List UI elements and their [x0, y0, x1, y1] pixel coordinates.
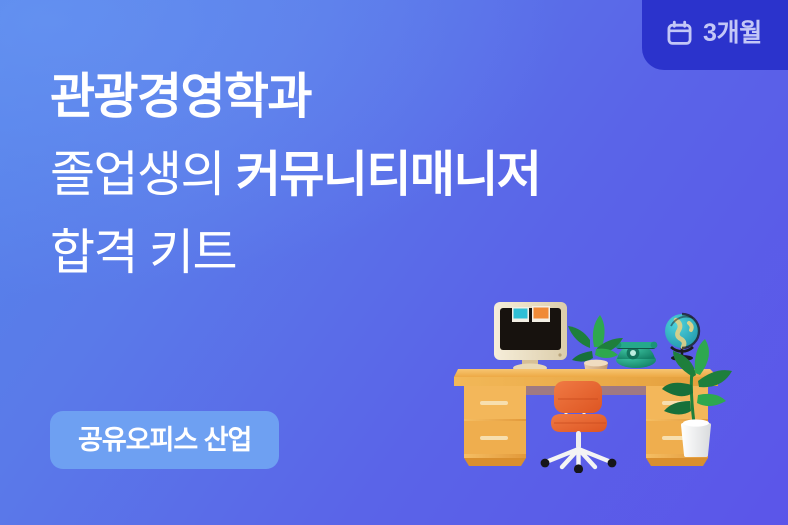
headline-line-3: 합격 키트 — [50, 214, 750, 292]
headline-line-3-text: 합격 키트 — [50, 226, 236, 280]
calendar-icon — [666, 20, 693, 47]
photo-sticker-cyan — [512, 307, 529, 322]
promo-card: 3개월 관광경영학과 졸업생의 커뮤니티매니저 합격 키트 공유오피스 산업 — [0, 0, 788, 525]
headline-line-2-part-2: 커뮤니티매니저 — [236, 148, 540, 202]
photo-sticker-orange — [532, 306, 550, 322]
headline-line-1-text: 관광경영학과 — [50, 70, 311, 124]
headline-line-2-part-1: 졸업생의 — [50, 148, 236, 202]
duration-badge-label: 3개월 — [703, 21, 762, 46]
headline-line-2: 졸업생의 커뮤니티매니저 — [50, 136, 750, 214]
headline-line-1: 관광경영학과 — [50, 58, 750, 136]
industry-tag: 공유오피스 산업 — [50, 411, 279, 469]
office-desk-illustration — [450, 273, 750, 473]
industry-tag-label: 공유오피스 산업 — [78, 427, 251, 454]
page-title: 관광경영학과 졸업생의 커뮤니티매니저 합격 키트 — [50, 58, 750, 292]
globe-illustration — [665, 314, 699, 361]
crt-monitor-illustration — [494, 302, 567, 373]
duration-badge: 3개월 — [642, 0, 788, 70]
rotary-telephone-illustration — [615, 342, 658, 368]
